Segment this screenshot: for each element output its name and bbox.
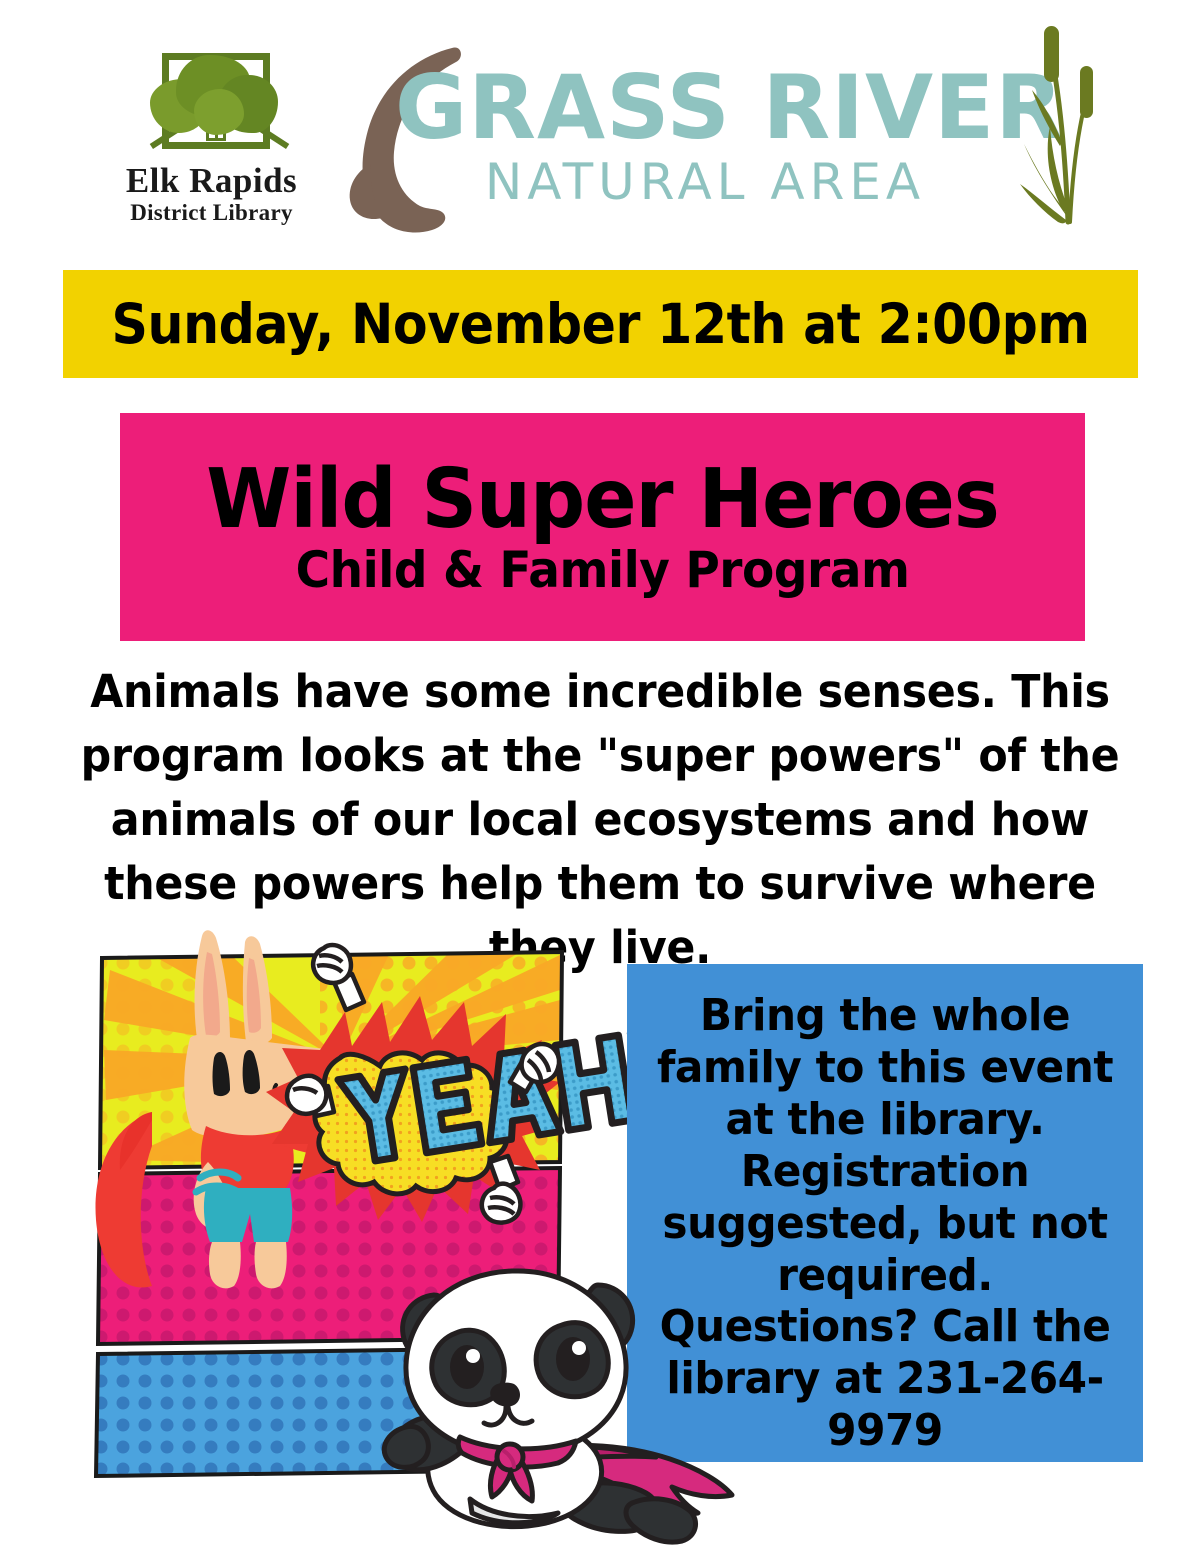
event-date-banner: Sunday, November 12th at 2:00pm <box>63 270 1138 378</box>
registration-info-box: Bring the whole family to this event at … <box>627 964 1143 1462</box>
tree-foliage-icon <box>150 55 280 135</box>
comic-panel-bottom <box>96 1348 560 1480</box>
library-name-line2: District Library <box>104 200 319 226</box>
tree-house-icon <box>140 45 292 163</box>
grass-river-title: GRASS RIVER <box>395 68 1045 149</box>
flyer-header: Elk Rapids District Library GRASS RIVER … <box>0 0 1200 262</box>
comic-illustration <box>90 930 650 1510</box>
program-title: Wild Super Heroes <box>206 459 999 541</box>
natural-area-subtitle: NATURAL AREA <box>395 153 1015 211</box>
library-name-line1: Elk Rapids <box>104 163 319 199</box>
grass-river-natural-area-logo: GRASS RIVER NATURAL AREA <box>340 22 1130 242</box>
program-subtitle: Child & Family Program <box>296 545 910 595</box>
registration-info-text: Bring the whole family to this event at … <box>645 990 1125 1457</box>
elk-rapids-library-logo: Elk Rapids District Library <box>104 45 319 230</box>
event-date-text: Sunday, November 12th at 2:00pm <box>111 292 1089 356</box>
program-title-banner: Wild Super Heroes Child & Family Program <box>120 413 1085 641</box>
cattail-plant-icon <box>1010 22 1130 232</box>
grass-river-wordmark: GRASS RIVER NATURAL AREA <box>395 68 1045 211</box>
